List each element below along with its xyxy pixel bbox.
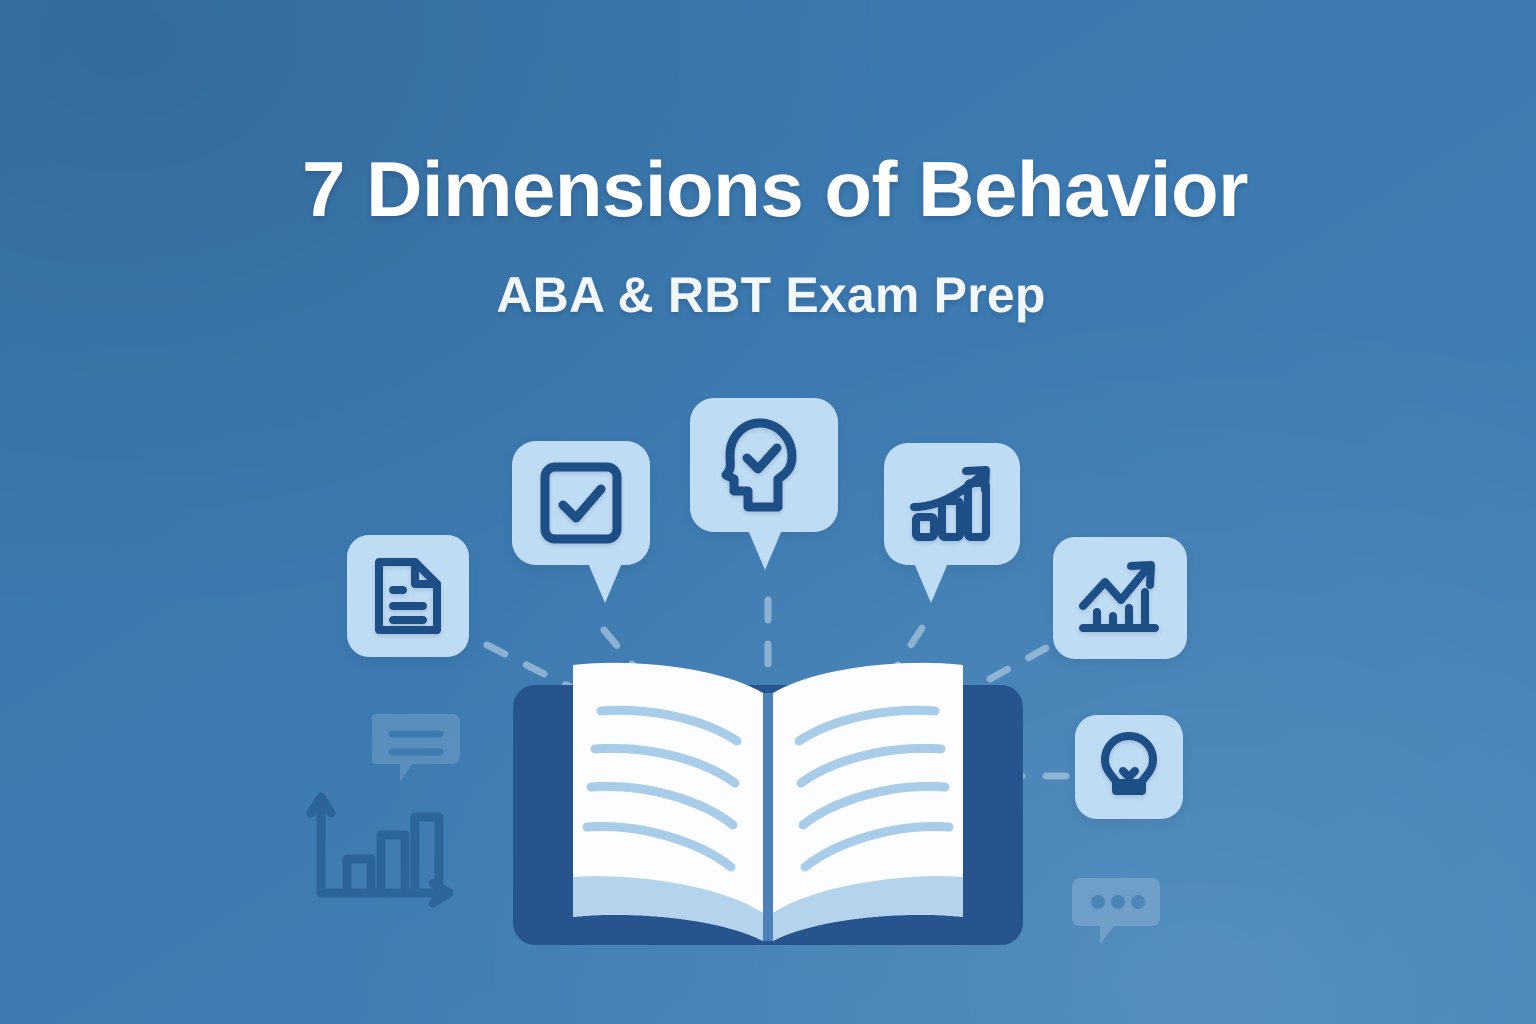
head-check-icon[interactable] (690, 398, 838, 532)
book-gutter (763, 693, 773, 941)
open-book (495, 645, 1041, 968)
line-growth-chart-icon[interactable] (1053, 537, 1187, 659)
poster-canvas: 7 Dimensions of Behavior ABA & RBT Exam … (0, 0, 1536, 1024)
page-subtitle: ABA & RBT Exam Prep (0, 270, 1536, 320)
bar-growth-arrow-icon[interactable] (884, 443, 1020, 565)
bubble-tail (914, 563, 948, 603)
bubble-tail (748, 530, 782, 570)
title-block: 7 Dimensions of Behavior ABA & RBT Exam … (0, 150, 1536, 320)
document-icon[interactable] (347, 535, 469, 657)
speech-bubble-lines-icon (372, 712, 464, 795)
speech-bubble-dots-icon (1072, 872, 1164, 955)
page-title: 7 Dimensions of Behavior (0, 150, 1536, 228)
checkbox-check-icon[interactable] (512, 441, 650, 565)
bubble-tail (588, 563, 622, 603)
bar-chart-axes-icon (303, 785, 463, 915)
lightbulb-icon[interactable] (1075, 715, 1183, 819)
